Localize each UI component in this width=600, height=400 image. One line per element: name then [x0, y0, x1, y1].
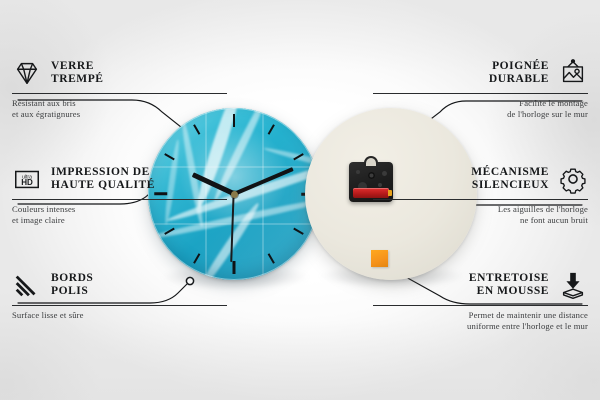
feature-mecanisme-silencieux[interactable]: MÉCANISME SILENCIEUX Les aiguilles de l'… — [373, 164, 588, 225]
feature-title-2: EN MOUSSE — [469, 285, 549, 298]
feature-entretoise-mousse[interactable]: ENTRETOISE EN MOUSSE Permet de maintenir… — [373, 270, 588, 331]
divider — [12, 93, 227, 94]
svg-text:HD: HD — [21, 178, 33, 187]
feature-impression-hd[interactable]: ultra HD IMPRESSION DE HAUTE QUALITÉ Cou… — [12, 164, 227, 225]
feature-desc-1: Couleurs intenses — [12, 204, 227, 215]
infographic-canvas: VERRE TREMPÉ Résistant aux bris et aux é… — [0, 0, 600, 400]
feature-title: MÉCANISME — [471, 166, 549, 179]
feature-title-2: POLIS — [51, 285, 93, 298]
gear-icon — [558, 164, 588, 194]
divider — [373, 305, 588, 306]
feature-desc-1: Les aiguilles de l'horloge — [373, 204, 588, 215]
feature-title: IMPRESSION DE — [51, 166, 155, 179]
feature-desc-2: ne font aucun bruit — [373, 215, 588, 226]
divider — [373, 93, 588, 94]
feature-desc-2: uniforme entre l'horloge et le mur — [373, 321, 588, 332]
ultra-hd-icon: ultra HD — [12, 164, 42, 194]
feature-desc-2: et image claire — [12, 215, 227, 226]
picture-hanger-icon — [558, 58, 588, 88]
feature-desc-1: Résistant aux bris — [12, 98, 227, 109]
feature-desc-1: Facilite le montage — [373, 98, 588, 109]
divider — [373, 199, 588, 200]
feature-bords-polis[interactable]: BORDS POLIS Surface lisse et sûre — [12, 270, 227, 321]
feature-title-2: SILENCIEUX — [471, 179, 549, 192]
feature-desc-2: de l'horloge sur le mur — [373, 109, 588, 120]
feature-desc-2: et aux égratignures — [12, 109, 227, 120]
divider — [12, 305, 227, 306]
feature-title: POIGNÉE — [489, 60, 549, 73]
feature-title: ENTRETOISE — [469, 272, 549, 285]
feature-verre-trempe[interactable]: VERRE TREMPÉ Résistant aux bris et aux é… — [12, 58, 227, 119]
feature-title-2: TREMPÉ — [51, 73, 104, 86]
foam-spacer — [371, 250, 388, 267]
divider — [12, 199, 227, 200]
feature-desc-1: Surface lisse et sûre — [12, 310, 227, 321]
feature-title: VERRE — [51, 60, 104, 73]
feature-desc-1: Permet de maintenir une distance — [373, 310, 588, 321]
foam-spacer-icon — [558, 270, 588, 300]
feature-title-2: HAUTE QUALITÉ — [51, 179, 155, 192]
polished-edges-icon — [12, 270, 42, 300]
feature-poignee-durable[interactable]: POIGNÉE DURABLE Facilite le montage de l… — [373, 58, 588, 119]
diamond-icon — [12, 58, 42, 88]
feature-title-2: DURABLE — [489, 73, 549, 86]
feature-title: BORDS — [51, 272, 93, 285]
